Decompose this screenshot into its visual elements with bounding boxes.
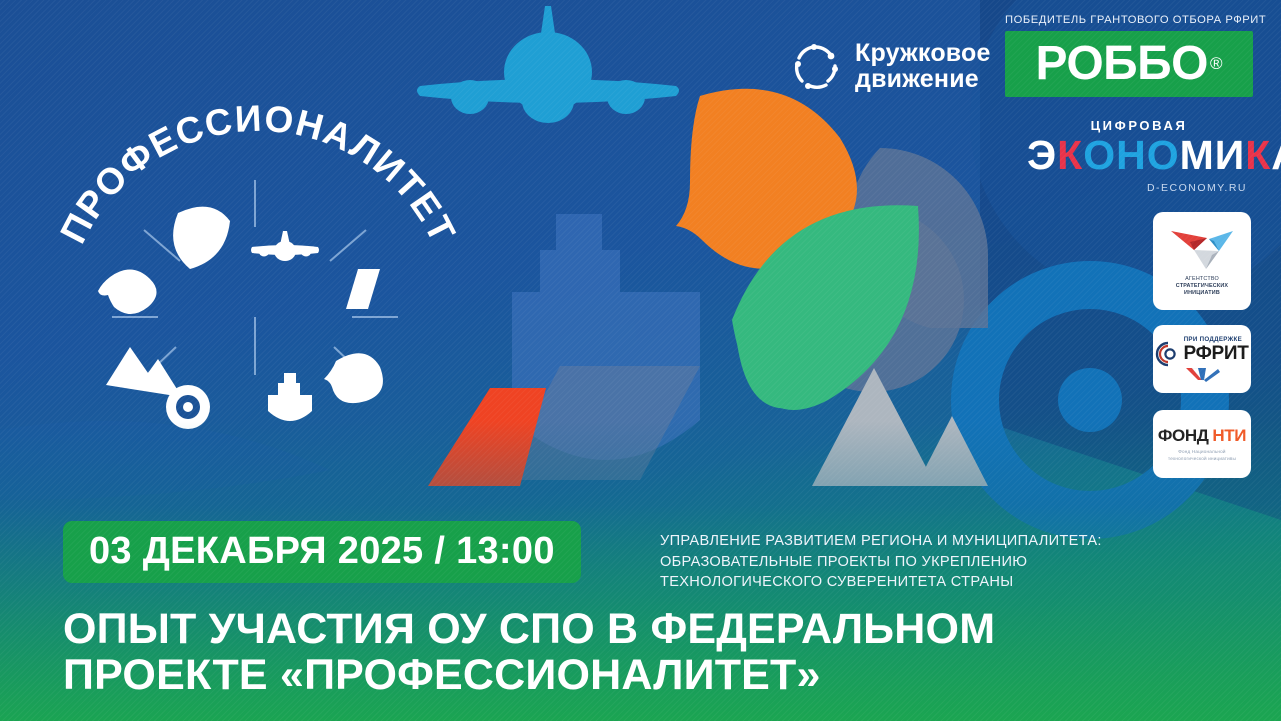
rfrit-wordmark: РФРИТ: [1183, 343, 1248, 365]
swirl-circle-icon: [790, 40, 842, 92]
partner-logo-kruzhkovoe[interactable]: Кружковое движение: [790, 40, 991, 92]
rfrit-row: РФРИТ: [1155, 341, 1248, 367]
droplet-icon: [324, 353, 383, 403]
event-date-text: 03 ДЕКАБРЯ 2025 / 13:00: [89, 530, 555, 572]
robbo-badge: РОББО ®: [1005, 31, 1253, 97]
cloud-icon: [98, 269, 157, 314]
event-subtitle-line3: ТЕХНОЛОГИЧЕСКОГО СУВЕРЕНИТЕТА СТРАНЫ: [660, 572, 1102, 593]
robbo-registered-mark: ®: [1210, 54, 1223, 74]
event-subtitle-line1: УПРАВЛЕНИЕ РАЗВИТИЕМ РЕГИОНА И МУНИЦИПАЛ…: [660, 531, 1102, 552]
event-headline: ОПЫТ УЧАСТИЯ ОУ СПО В ФЕДЕРАЛЬНОМ ПРОЕКТ…: [63, 606, 1241, 699]
partner-logo-robbo[interactable]: ПОБЕДИТЕЛЬ ГРАНТОВОГО ОТБОРА РФРИТ РОББО…: [1005, 14, 1253, 97]
event-subtitle-line2: ОБРАЗОВАТЕЛЬНЫЕ ПРОЕКТЫ ПО УКРЕПЛЕНИЮ: [660, 552, 1102, 573]
nti-subtitle: Фонд Национальной технологической инициа…: [1168, 449, 1236, 462]
partner-logo-asi[interactable]: АГЕНТСТВО СТРАТЕГИЧЕСКИХ ИНИЦИАТИВ: [1153, 212, 1251, 310]
nti-wordmark-nti: НТИ: [1212, 426, 1246, 446]
dial-curved-label: ПРОФЕССИОНАЛИТЕТ: [52, 98, 463, 250]
partner-logo-economy[interactable]: ЦИФРОВАЯ ЭКОНОМИКА D-ECONOMY.RU: [1027, 118, 1251, 194]
robbo-wordmark: РОББО: [1035, 40, 1208, 88]
asi-label-line1: АГЕНТСТВО: [1176, 276, 1228, 283]
airplane-icon: [251, 231, 319, 261]
mountain-icon: [106, 347, 182, 397]
kruzhkovoe-line1: Кружковое: [855, 40, 991, 66]
asi-label: АГЕНТСТВО СТРАТЕГИЧЕСКИХ ИНИЦИАТИВ: [1176, 276, 1228, 298]
partner-logo-kruzhkovoe-text: Кружковое движение: [855, 40, 991, 92]
nti-wordmark-fond: ФОНД: [1158, 426, 1209, 446]
rfrit-arcs-icon: [1155, 341, 1181, 367]
kruzhkovoe-line2: движение: [855, 66, 991, 92]
economy-url: D-ECONOMY.RU: [1027, 182, 1251, 194]
asi-label-line2: СТРАТЕГИЧЕСКИХ: [1176, 283, 1228, 290]
nti-row: ФОНД НТИ: [1158, 426, 1246, 446]
partner-logo-rfrit[interactable]: ПРИ ПОДДЕРЖКЕ РФРИТ: [1153, 325, 1251, 393]
rfrit-flag-check-icon: [1182, 368, 1222, 382]
partner-logo-nti[interactable]: ФОНД НТИ Фонд Национальной технологическ…: [1153, 410, 1251, 478]
event-date-badge: 03 ДЕКАБРЯ 2025 / 13:00: [63, 521, 581, 583]
event-headline-line1: ОПЫТ УЧАСТИЯ ОУ СПО В ФЕДЕРАЛЬНОМ: [63, 606, 1241, 652]
asi-label-line3: ИНИЦИАТИВ: [1176, 290, 1228, 297]
event-subtitle: УПРАВЛЕНИЕ РАЗВИТИЕМ РЕГИОНА И МУНИЦИПАЛ…: [660, 531, 1102, 593]
gauge-dial: ПРОФЕССИОНАЛИТЕТ: [40, 55, 470, 475]
parallelogram-icon: [346, 269, 380, 309]
promo-poster: ПРОФЕССИОНАЛИТЕТ: [0, 0, 1281, 721]
event-headline-line2: ПРОЕКТЕ «ПРОФЕССИОНАЛИТЕТ»: [63, 652, 1241, 698]
nti-subtitle-line2: технологической инициативы: [1168, 456, 1236, 462]
ship-icon: [268, 373, 312, 421]
leaf-icon: [173, 207, 230, 269]
economy-kicker: ЦИФРОВАЯ: [1027, 118, 1251, 133]
economy-wordmark: ЭКОНОМИКА: [1027, 135, 1251, 176]
robbo-kicker: ПОБЕДИТЕЛЬ ГРАНТОВОГО ОТБОРА РФРИТ: [1005, 14, 1253, 26]
asi-arrows-icon: [1167, 225, 1237, 273]
